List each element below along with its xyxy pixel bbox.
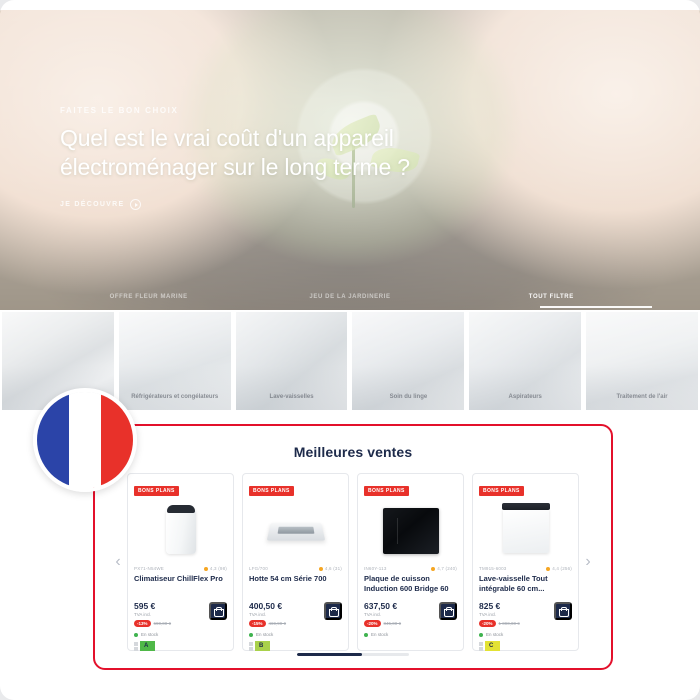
stock-status: En stock <box>364 632 457 637</box>
add-to-cart-button[interactable] <box>439 602 457 620</box>
stock-label: En stock <box>371 632 388 637</box>
stock-label: En stock <box>256 632 273 637</box>
deal-badge: BONS PLANS <box>479 486 524 496</box>
price-block: 825 € TVA incl. -20% 1 090,00 € <box>479 602 520 627</box>
vat-note: TVA incl. <box>249 612 286 617</box>
product-price: 400,50 € <box>249 602 286 611</box>
product-price: 825 € <box>479 602 520 611</box>
old-price: 845,00 € <box>384 621 402 626</box>
price-row: 595 € TVA incl. -13% 690,00 € <box>134 602 227 627</box>
hero-content: FAITES LE BON CHOIX Quel est le vrai coû… <box>60 106 480 211</box>
discount-badge: -15% <box>249 620 266 627</box>
stock-label: En stock <box>141 632 158 637</box>
product-meta: TM915-6003 4,4 (256) <box>479 566 572 571</box>
rating-value: 4,4 (256) <box>552 566 572 571</box>
category-tile-dishwashers[interactable]: Lave-vaisselles <box>236 312 348 410</box>
vat-note: TVA incl. <box>364 612 401 617</box>
energy-label: B <box>249 641 342 651</box>
add-to-cart-button[interactable] <box>554 602 572 620</box>
hero-slide-tab[interactable]: Offre fleur marine <box>48 294 249 300</box>
category-label: Lave-vaisselles <box>236 394 348 401</box>
product-card[interactable]: BONS PLANS LFG/700 4,6 (31) Hotte 54 cm … <box>242 473 349 651</box>
product-carousel: ‹ BONS PLANS PX71-N54WE 4,3 (98) <box>95 473 611 651</box>
product-card[interactable]: BONS PLANS PX71-N54WE 4,3 (98) Climatise… <box>127 473 234 651</box>
star-icon <box>546 567 550 571</box>
energy-scale-icon <box>134 642 138 651</box>
energy-class-arrow: A <box>140 641 155 651</box>
discount-badge: -20% <box>364 620 381 627</box>
hero-cta-label: JE DÉCOUVRE <box>60 201 124 208</box>
hero-eyebrow: FAITES LE BON CHOIX <box>60 106 480 115</box>
category-label: Réfrigérateurs et congélateurs <box>119 394 231 401</box>
product-price: 595 € <box>134 602 171 611</box>
dishwasher-icon <box>503 509 549 553</box>
carousel-scrollbar[interactable] <box>297 653 409 656</box>
air-conditioner-icon <box>166 508 196 554</box>
hero-cta-button[interactable]: JE DÉCOUVRE <box>60 199 141 210</box>
category-label: Aspirateurs <box>469 394 581 401</box>
discount-row: -15% 469,99 € <box>249 620 286 627</box>
star-icon <box>431 567 435 571</box>
discount-badge: -13% <box>134 620 151 627</box>
product-meta: LFG/700 4,6 (31) <box>249 566 342 571</box>
hero-banner: FAITES LE BON CHOIX Quel est le vrai coû… <box>0 10 700 310</box>
energy-label: A <box>134 641 227 651</box>
deal-badge: BONS PLANS <box>249 486 294 496</box>
energy-class-arrow: B <box>255 641 270 651</box>
discount-row: -20% 845,00 € <box>364 620 401 627</box>
product-image <box>134 500 227 562</box>
category-tile-vacuums[interactable]: Aspirateurs <box>469 312 581 410</box>
star-icon <box>319 567 323 571</box>
product-name[interactable]: Hotte 54 cm Série 700 <box>249 574 342 596</box>
product-name[interactable]: Lave-vaisselle Tout intégrable 60 cm... <box>479 574 572 596</box>
product-ref: TM915-6003 <box>479 566 507 571</box>
product-image <box>479 500 572 562</box>
product-card[interactable]: BONS PLANS IN60Y-113 4,7 (240) Plaque de… <box>357 473 464 651</box>
price-block: 595 € TVA incl. -13% 690,00 € <box>134 602 171 627</box>
price-block: 400,50 € TVA incl. -15% 469,99 € <box>249 602 286 627</box>
old-price: 1 090,00 € <box>499 621 520 626</box>
stock-status: En stock <box>134 632 227 637</box>
cart-icon <box>444 607 452 615</box>
product-meta: PX71-N54WE 4,3 (98) <box>134 566 227 571</box>
discount-row: -13% 690,00 € <box>134 620 171 627</box>
price-row: 637,50 € TVA incl. -20% 845,00 € <box>364 602 457 627</box>
cart-icon <box>214 607 222 615</box>
hero-slide-tab[interactable]: Jeu de la jardinerie <box>249 294 450 300</box>
category-label: Traitement de l'air <box>586 394 698 401</box>
vat-note: TVA incl. <box>479 612 520 617</box>
stock-dot-icon <box>134 633 138 637</box>
old-price: 690,00 € <box>154 621 172 626</box>
product-meta: IN60Y-113 4,7 (240) <box>364 566 457 571</box>
deal-badge: BONS PLANS <box>364 486 409 496</box>
price-row: 400,50 € TVA incl. -15% 469,99 € <box>249 602 342 627</box>
page-root: FAITES LE BON CHOIX Quel est le vrai coû… <box>0 0 700 700</box>
add-to-cart-button[interactable] <box>209 602 227 620</box>
stock-dot-icon <box>364 633 368 637</box>
product-rating: 4,7 (240) <box>431 566 457 571</box>
energy-scale-icon <box>479 642 483 651</box>
hero-slider-nav[interactable]: Offre fleur marine Jeu de la jardinerie … <box>0 294 700 300</box>
stock-dot-icon <box>249 633 253 637</box>
deal-badge: BONS PLANS <box>134 486 179 496</box>
product-price: 637,50 € <box>364 602 401 611</box>
vat-note: TVA incl. <box>134 612 171 617</box>
category-tile-laundry[interactable]: Soin du linge <box>352 312 464 410</box>
bestsellers-panel: Meilleures ventes ‹ BONS PLANS PX71-N54W… <box>93 424 613 670</box>
rating-value: 4,6 (31) <box>325 566 342 571</box>
discount-row: -20% 1 090,00 € <box>479 620 520 627</box>
carousel-scrollbar-thumb[interactable] <box>297 653 362 656</box>
energy-scale-icon <box>249 642 253 651</box>
hero-title: Quel est le vrai coût d'un appareil élec… <box>60 124 480 181</box>
cooker-hood-icon <box>266 523 325 541</box>
arrow-circle-icon <box>130 199 141 210</box>
rating-value: 4,7 (240) <box>437 566 457 571</box>
product-card[interactable]: BONS PLANS TM915-6003 4,4 (256) Lave-vai… <box>472 473 579 651</box>
product-rating: 4,4 (256) <box>546 566 572 571</box>
carousel-prev-button[interactable]: ‹ <box>109 473 127 651</box>
rating-value: 4,3 (98) <box>210 566 227 571</box>
product-image <box>364 500 457 562</box>
stock-status: En stock <box>249 632 342 637</box>
price-block: 637,50 € TVA incl. -20% 845,00 € <box>364 602 401 627</box>
category-label: Soin du linge <box>352 394 464 401</box>
product-image <box>249 500 342 562</box>
product-card-list: BONS PLANS PX71-N54WE 4,3 (98) Climatise… <box>127 473 579 651</box>
product-name[interactable]: Climatiseur ChillFlex Pro <box>134 574 227 596</box>
add-to-cart-button[interactable] <box>324 602 342 620</box>
stock-status: En stock <box>479 632 572 637</box>
product-name[interactable]: Plaque de cuisson Induction 600 Bridge 6… <box>364 574 457 596</box>
cart-icon <box>559 607 567 615</box>
bestsellers-title: Meilleures ventes <box>95 426 611 460</box>
energy-label: C <box>479 641 572 651</box>
hero-slide-indicator <box>540 306 652 308</box>
product-rating: 4,3 (98) <box>204 566 227 571</box>
french-flag-badge <box>33 388 137 492</box>
cart-icon <box>329 607 337 615</box>
stock-label: En stock <box>486 632 503 637</box>
carousel-next-button[interactable]: › <box>579 473 597 651</box>
flag-stripe-white <box>69 392 101 488</box>
star-icon <box>204 567 208 571</box>
category-tile-refrigeration[interactable]: Réfrigérateurs et congélateurs <box>119 312 231 410</box>
price-row: 825 € TVA incl. -20% 1 090,00 € <box>479 602 572 627</box>
product-ref: PX71-N54WE <box>134 566 164 571</box>
product-rating: 4,6 (31) <box>319 566 342 571</box>
category-tile-air-treatment[interactable]: Traitement de l'air <box>586 312 698 410</box>
stock-dot-icon <box>479 633 483 637</box>
energy-class-arrow: C <box>485 641 500 651</box>
product-ref: LFG/700 <box>249 566 268 571</box>
old-price: 469,99 € <box>269 621 287 626</box>
product-ref: IN60Y-113 <box>364 566 387 571</box>
discount-badge: -20% <box>479 620 496 627</box>
hero-slide-tab[interactable]: Tout filtre <box>451 294 652 300</box>
induction-hob-icon <box>383 508 439 554</box>
